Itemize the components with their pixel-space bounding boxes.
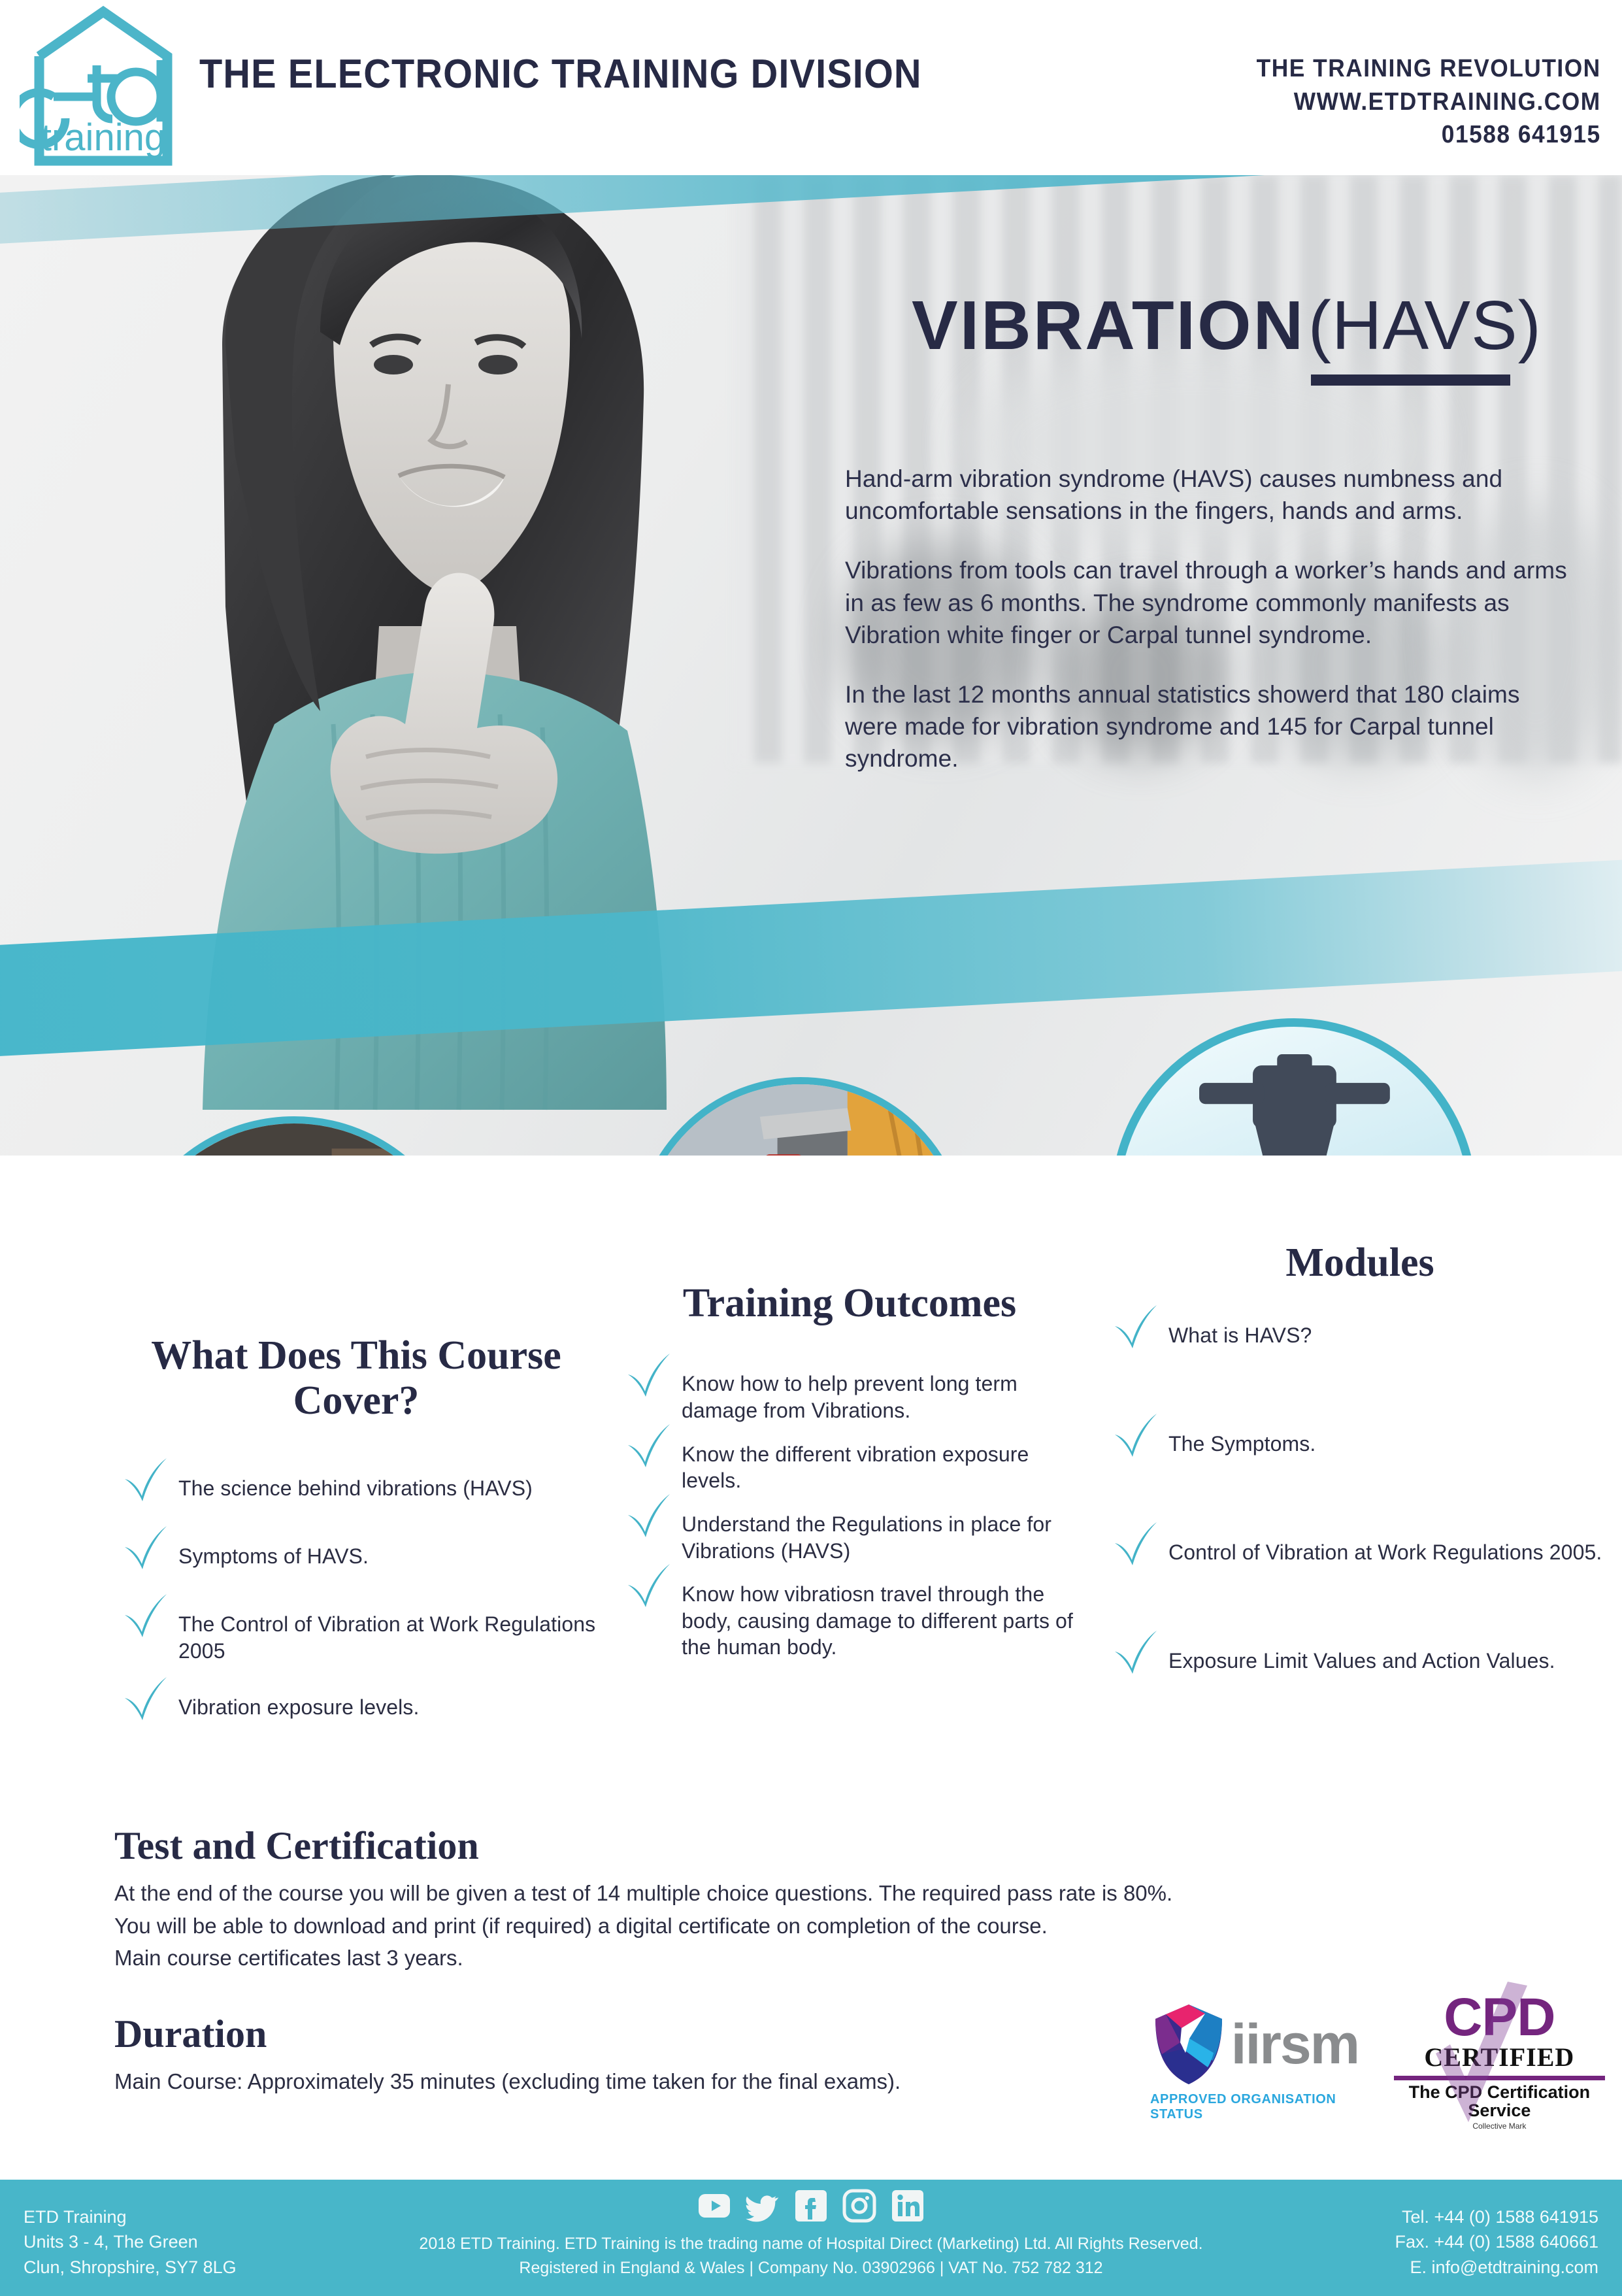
list-item: Exposure Limit Values and Action Values. xyxy=(1111,1637,1622,1686)
list-item: Know how to help prevent long term damag… xyxy=(624,1360,1088,1423)
list-item: Symptoms of HAVS. xyxy=(121,1533,604,1581)
page-footer: ETD Training Units 3 - 4, The Green Clun… xyxy=(0,2180,1622,2296)
poster-page: training THE ELECTRONIC TRAINING DIVISIO… xyxy=(0,0,1622,2296)
check-icon xyxy=(121,1591,169,1640)
iirsm-wordmark: iirsm xyxy=(1231,2022,1359,2067)
list-item: Know the different vibration exposure le… xyxy=(624,1431,1088,1494)
list-item-label: Control of Vibration at Work Regulations… xyxy=(1168,1529,1602,1566)
column-training-outcomes: Training Outcomes Know how to help preve… xyxy=(611,1281,1088,1667)
check-icon xyxy=(1111,1411,1159,1459)
list-item: The Control of Vibration at Work Regulat… xyxy=(121,1601,604,1664)
list-item: Know how vibratiosn travel through the b… xyxy=(624,1571,1088,1661)
list-item-label: Symptoms of HAVS. xyxy=(178,1533,369,1570)
header-website[interactable]: WWW.ETDTRAINING.COM xyxy=(1257,86,1601,119)
footer-legal: 2018 ETD Training. ETD Training is the t… xyxy=(0,2232,1622,2280)
list-item-label: The science behind vibrations (HAVS) xyxy=(178,1465,533,1502)
list-item: The Symptoms. xyxy=(1111,1420,1622,1469)
footer-contact: Tel. +44 (0) 1588 641915 Fax. +44 (0) 15… xyxy=(1395,2204,1598,2280)
footer-social-links xyxy=(0,2189,1622,2223)
hero-paragraph: Vibrations from tools can travel through… xyxy=(845,554,1567,651)
list-item-label: Know how to help prevent long term damag… xyxy=(682,1360,1088,1423)
list-item: The science behind vibrations (HAVS) xyxy=(121,1465,604,1513)
list-item-label: Know the different vibration exposure le… xyxy=(682,1431,1088,1494)
footer-center: 2018 ETD Training. ETD Training is the t… xyxy=(0,2189,1622,2280)
modules-list: What is HAVS? The Symptoms. Control of V… xyxy=(1111,1312,1622,1686)
cpd-tick-icon xyxy=(1432,1982,1530,2132)
check-icon xyxy=(121,1674,169,1723)
hero-paragraph: Hand-arm vibration syndrome (HAVS) cause… xyxy=(845,463,1567,527)
page-title: THE ELECTRONIC TRAINING DIVISION xyxy=(199,51,922,97)
linkedin-icon[interactable] xyxy=(891,2189,925,2223)
list-item: Understand the Regulations in place for … xyxy=(624,1501,1088,1564)
header-phone: 01588 641915 xyxy=(1257,118,1601,152)
check-icon xyxy=(1111,1303,1159,1351)
column-heading: What Does This Course Cover? xyxy=(108,1333,604,1424)
training-outcomes-list: Know how to help prevent long term damag… xyxy=(624,1360,1088,1661)
section-heading: Test and Certification xyxy=(114,1823,1513,1869)
hero-title-bold: VIBRATION xyxy=(912,287,1305,364)
column-course-cover: What Does This Course Cover? The science… xyxy=(108,1333,604,1752)
etd-training-logo: training xyxy=(20,5,186,169)
instagram-icon[interactable] xyxy=(842,2189,876,2223)
check-icon xyxy=(121,1456,169,1504)
title-underline xyxy=(1311,374,1510,386)
twitter-icon[interactable] xyxy=(746,2189,780,2223)
hero-paragraph: In the last 12 months annual statistics … xyxy=(845,678,1567,775)
column-heading: Modules xyxy=(1098,1240,1622,1286)
test-certification-block: Test and Certification At the end of the… xyxy=(114,1823,1513,1974)
check-icon xyxy=(1111,1520,1159,1568)
svg-text:training: training xyxy=(41,116,165,159)
section-line: You will be able to download and print (… xyxy=(114,1910,1513,1942)
check-icon xyxy=(624,1491,672,1540)
facebook-icon[interactable] xyxy=(794,2189,828,2223)
iirsm-subtitle: APPROVED ORGANISATION STATUS xyxy=(1150,2092,1361,2122)
list-item-label: The Symptoms. xyxy=(1168,1420,1316,1457)
check-icon xyxy=(624,1422,672,1470)
footer-phone: Tel. +44 (0) 1588 641915 xyxy=(1395,2204,1598,2229)
section-line: At the end of the course you will be giv… xyxy=(114,1878,1513,1909)
hero-title: VIBRATION (HAVS) xyxy=(912,286,1542,365)
section-line: Main course certificates last 3 years. xyxy=(114,1942,1513,1974)
course-cover-list: The science behind vibrations (HAVS) Sym… xyxy=(121,1465,604,1732)
list-item-label: Exposure Limit Values and Action Values. xyxy=(1168,1637,1555,1674)
check-icon xyxy=(624,1351,672,1399)
youtube-icon[interactable] xyxy=(697,2189,731,2223)
list-item-label: Know how vibratiosn travel through the b… xyxy=(682,1571,1088,1661)
footer-email[interactable]: E. info@etdtraining.com xyxy=(1395,2255,1598,2280)
hero-description: Hand-arm vibration syndrome (HAVS) cause… xyxy=(845,463,1567,775)
list-item: Vibration exposure levels. xyxy=(121,1684,604,1732)
list-item: What is HAVS? xyxy=(1111,1312,1622,1360)
column-heading: Training Outcomes xyxy=(611,1281,1088,1326)
hero-title-light: (HAVS) xyxy=(1308,287,1542,364)
list-item-label: Understand the Regulations in place for … xyxy=(682,1501,1088,1564)
list-item: Control of Vibration at Work Regulations… xyxy=(1111,1529,1622,1577)
footer-legal-line: 2018 ETD Training. ETD Training is the t… xyxy=(0,2232,1622,2256)
course-columns: What Does This Course Cover? The science… xyxy=(0,1222,1622,1752)
iirsm-badge: iirsm APPROVED ORGANISATION STATUS xyxy=(1150,2002,1361,2122)
footer-legal-line: Registered in England & Wales | Company … xyxy=(0,2256,1622,2280)
cpd-badge: CPD CERTIFIED The CPD Certification Serv… xyxy=(1391,1993,1608,2131)
list-item-label: The Control of Vibration at Work Regulat… xyxy=(178,1601,604,1664)
hero-section: VIBRATION (HAVS) Hand-arm vibration synd… xyxy=(0,175,1622,1156)
footer-fax: Fax. +44 (0) 1588 640661 xyxy=(1395,2229,1598,2254)
header-contact: THE TRAINING REVOLUTION WWW.ETDTRAINING.… xyxy=(1231,52,1601,152)
check-icon xyxy=(121,1523,169,1572)
page-header: training THE ELECTRONIC TRAINING DIVISIO… xyxy=(0,0,1622,175)
header-tagline: THE TRAINING REVOLUTION xyxy=(1257,52,1601,86)
column-modules: Modules What is HAVS? The Symptoms. Cont… xyxy=(1098,1240,1622,1686)
accreditation-badges: iirsm APPROVED ORGANISATION STATUS CPD C… xyxy=(1150,1987,1608,2137)
iirsm-shield-icon xyxy=(1153,2002,1225,2087)
check-icon xyxy=(1111,1628,1159,1676)
list-item-label: Vibration exposure levels. xyxy=(178,1684,419,1721)
list-item-label: What is HAVS? xyxy=(1168,1312,1312,1349)
check-icon xyxy=(624,1561,672,1610)
